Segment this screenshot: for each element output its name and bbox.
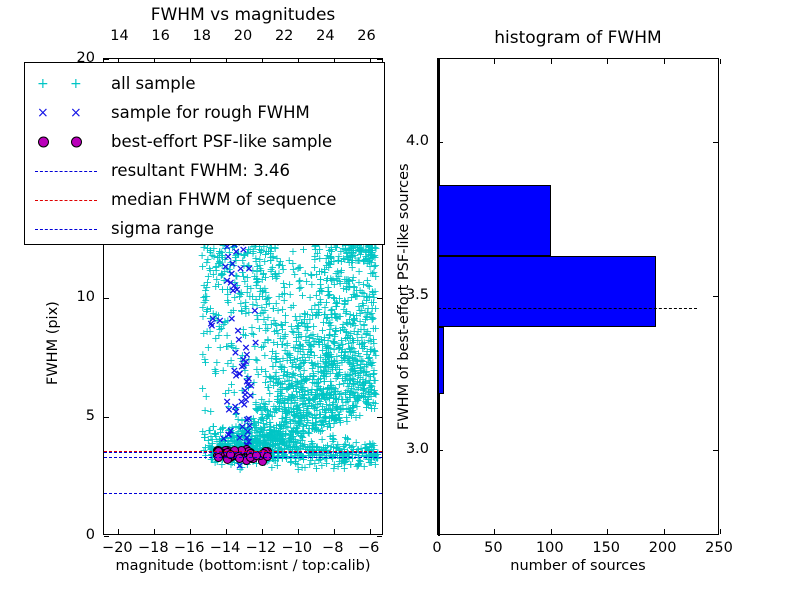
x-tick-label-top: 20 (234, 28, 252, 44)
data-point: + (368, 289, 377, 300)
data-point: + (311, 310, 320, 321)
data-point: + (310, 254, 319, 265)
data-point: + (307, 357, 316, 368)
data-point: × (246, 380, 255, 391)
data-point: + (315, 334, 324, 345)
right-y-axis-label: FWHM of best-effort PSF-like sources (396, 163, 412, 430)
data-point: × (239, 360, 248, 371)
histogram-bar (438, 59, 440, 114)
tick-mark (494, 59, 495, 64)
data-point: + (211, 368, 220, 379)
data-point: + (334, 444, 343, 455)
data-point: + (263, 382, 272, 393)
data-point: + (290, 269, 299, 280)
tick-mark (713, 142, 718, 143)
right-x-axis-label: number of sources (437, 558, 719, 574)
data-point: + (344, 381, 353, 392)
data-point: + (298, 290, 307, 301)
tick-mark (494, 529, 495, 534)
data-point: + (366, 346, 375, 357)
x-tick-label-top: 14 (110, 28, 128, 44)
left-plot-title: FWHM vs magnitudes (103, 5, 383, 25)
data-point: + (360, 361, 369, 372)
data-point: + (275, 397, 284, 408)
x-tick-label: −10 (282, 540, 313, 556)
histogram-bar (438, 394, 440, 536)
legend-marker-plus: ++ (25, 74, 111, 94)
y-tick-label: 10 (77, 289, 95, 305)
data-point: + (348, 361, 357, 372)
data-point: × (231, 347, 240, 358)
data-point: + (201, 357, 210, 368)
data-point: + (319, 419, 328, 430)
data-point: + (263, 405, 272, 416)
data-point: × (207, 320, 216, 331)
data-point: + (334, 340, 343, 351)
tick-mark (607, 59, 608, 64)
x-tick-label: −14 (210, 540, 241, 556)
histogram-bar (438, 114, 440, 185)
data-point: + (206, 265, 215, 276)
data-point: × (227, 313, 236, 324)
tick-mark (664, 529, 665, 534)
legend-label: all sample (111, 74, 196, 93)
data-point: + (333, 404, 342, 415)
x-tick-label: 150 (592, 540, 620, 556)
data-point: + (343, 295, 352, 306)
histogram-resultant-fwhm-line (438, 308, 697, 309)
data-point: × (250, 305, 259, 316)
tick-mark (713, 450, 718, 451)
data-point: × (221, 261, 230, 272)
x-tick-label: −20 (102, 540, 133, 556)
legend-box: ++all sample××sample for rough FWHMbest-… (24, 62, 385, 245)
x-tick-label: 200 (649, 540, 677, 556)
data-point: + (333, 358, 342, 369)
legend-label: best-effort PSF-like sample (111, 132, 332, 151)
tick-mark (607, 529, 608, 534)
data-point: + (353, 335, 362, 346)
tick-mark (720, 59, 721, 64)
data-point: + (252, 364, 261, 375)
data-point: + (322, 349, 331, 360)
data-point: + (359, 291, 368, 302)
histogram-bar (438, 256, 656, 327)
data-point: + (202, 282, 211, 293)
data-point: + (288, 246, 297, 257)
y-tick-label: 5 (86, 408, 95, 424)
data-point: × (215, 315, 224, 326)
x-tick-label: −18 (138, 540, 169, 556)
data-point: + (341, 326, 350, 337)
data-point: + (296, 407, 305, 418)
legend-label: median FHWM of sequence (111, 190, 336, 209)
data-point: × (239, 244, 248, 255)
legend-item: ××sample for rough FWHM (25, 98, 384, 127)
histogram-bar (438, 327, 444, 395)
data-point: + (368, 314, 377, 325)
data-point: + (326, 320, 335, 331)
data-point: + (279, 264, 288, 275)
figure-canvas: FWHM vs magnitudes 14161820222426 −20−18… (0, 0, 800, 600)
data-point: × (251, 337, 260, 348)
data-point: + (236, 298, 245, 309)
tick-mark (377, 536, 382, 537)
data-point: + (204, 425, 213, 436)
legend-marker-dashdot-line (25, 219, 111, 239)
data-point: + (260, 337, 269, 348)
data-point: × (224, 429, 233, 440)
legend-item: sigma range (25, 214, 384, 243)
tick-mark (104, 536, 109, 537)
data-point: + (358, 379, 367, 390)
data-point: + (309, 368, 318, 379)
y-tick-label: 3.0 (406, 441, 429, 457)
x-tick-label: 50 (484, 540, 502, 556)
x-tick-label: −8 (322, 540, 343, 556)
data-point: × (241, 342, 250, 353)
x-tick-label: −12 (246, 540, 277, 556)
data-point: × (223, 275, 232, 286)
right-plot-axes (437, 58, 719, 535)
x-tick-label-top: 26 (357, 28, 375, 44)
data-point: + (366, 268, 375, 279)
data-point: × (224, 404, 233, 415)
x-tick-label-top: 16 (151, 28, 169, 44)
x-tick-label: 100 (536, 540, 564, 556)
right-plot-title: histogram of FWHM (437, 28, 719, 48)
data-point: + (282, 348, 291, 359)
histogram-bar (438, 185, 551, 256)
data-point: + (276, 361, 285, 372)
data-point: + (354, 255, 363, 266)
data-point: + (330, 308, 339, 319)
data-point: + (363, 326, 372, 337)
x-tick-label: 250 (705, 540, 733, 556)
data-point: + (316, 285, 325, 296)
data-point: + (367, 245, 376, 256)
data-point: + (254, 417, 263, 428)
data-point: + (342, 278, 351, 289)
data-point: + (342, 306, 351, 317)
legend-label: sample for rough FWHM (111, 103, 310, 122)
data-point: + (280, 295, 289, 306)
sigma-range-lower-line (104, 457, 382, 458)
x-tick-label-top: 24 (316, 28, 334, 44)
data-point: + (333, 275, 342, 286)
data-point: + (273, 378, 282, 389)
tick-mark (551, 529, 552, 534)
data-point: + (258, 274, 267, 285)
legend-item: resultant FWHM: 3.46 (25, 156, 384, 185)
data-point: + (255, 254, 264, 265)
data-point: + (206, 406, 215, 417)
data-point: + (278, 324, 287, 335)
data-point: + (309, 394, 318, 405)
tick-mark (551, 59, 552, 64)
x-tick-label: −6 (358, 540, 379, 556)
legend-marker-circle (25, 132, 111, 152)
left-x-axis-label: magnitude (bottom:isnt / top:calib) (103, 558, 383, 574)
legend-item: best-effort PSF-like sample (25, 127, 384, 156)
data-point: + (344, 338, 353, 349)
resultant-fwhm-line (104, 452, 382, 453)
data-point: + (346, 406, 355, 417)
data-point: + (361, 391, 370, 402)
tick-mark (713, 296, 718, 297)
data-point: + (344, 244, 353, 255)
data-point: + (327, 252, 336, 263)
y-tick-label: 4.0 (406, 133, 429, 149)
y-tick-label: 0 (86, 527, 95, 543)
data-point: × (242, 432, 251, 443)
data-point: + (280, 282, 289, 293)
x-tick-label: 0 (432, 540, 441, 556)
x-tick-label-top: 18 (193, 28, 211, 44)
left-y-axis-label: FWHM (pix) (45, 301, 61, 385)
data-point: × (245, 263, 254, 274)
x-tick-label-top: 22 (275, 28, 293, 44)
sigma-range-upper-line (104, 493, 382, 494)
data-point: + (294, 428, 303, 439)
legend-marker-dashed-line (25, 161, 111, 181)
tick-mark (720, 529, 721, 534)
legend-label: sigma range (111, 219, 214, 238)
x-tick-label: −16 (174, 540, 205, 556)
data-point: + (198, 383, 207, 394)
legend-item: ++all sample (25, 69, 384, 98)
data-point: + (292, 386, 301, 397)
legend-label: resultant FWHM: 3.46 (111, 161, 290, 180)
legend-item: median FHWM of sequence (25, 185, 384, 214)
legend-marker-dashed-line (25, 190, 111, 210)
data-point: + (317, 388, 326, 399)
tick-mark (664, 59, 665, 64)
legend-marker-cross: ×× (25, 103, 111, 123)
data-point: + (299, 371, 308, 382)
data-point: + (294, 343, 303, 354)
data-point: + (263, 293, 272, 304)
